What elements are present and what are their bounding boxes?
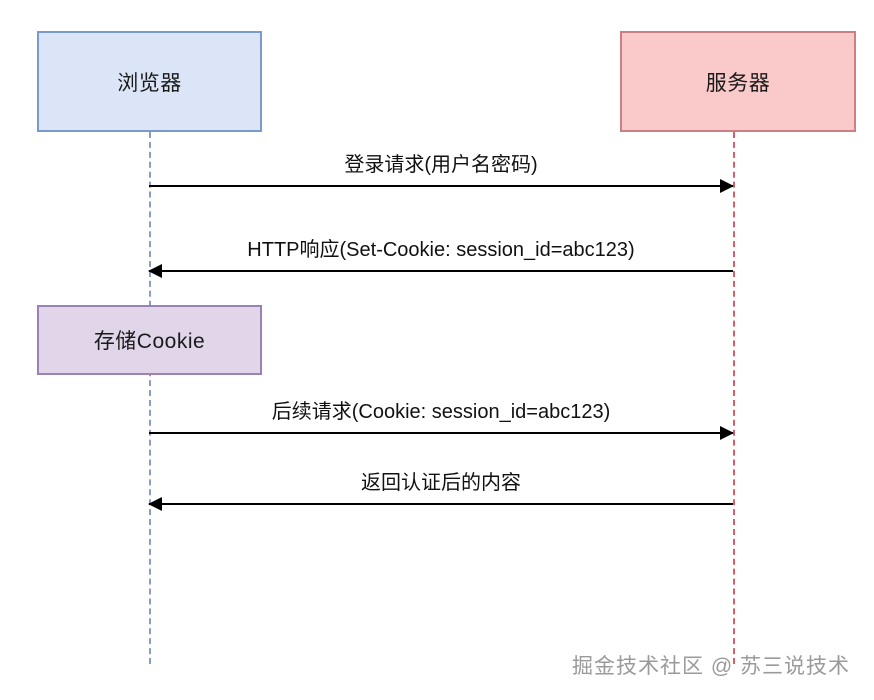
action-store-cookie-label: 存储Cookie — [94, 325, 205, 355]
message-3-line — [149, 432, 733, 434]
message-3-label: 后续请求(Cookie: session_id=abc123) — [149, 395, 733, 424]
participant-server: 服务器 — [620, 31, 856, 132]
arrow-right-icon — [720, 426, 734, 440]
participant-server-label: 服务器 — [706, 67, 771, 97]
message-1-label: 登录请求(用户名密码) — [149, 148, 733, 177]
participant-browser: 浏览器 — [37, 31, 262, 132]
message-2-label: HTTP响应(Set-Cookie: session_id=abc123) — [149, 233, 733, 262]
arrow-left-icon — [148, 264, 162, 278]
lifeline-server — [733, 132, 735, 664]
participant-browser-label: 浏览器 — [117, 67, 182, 97]
message-2-line — [149, 270, 733, 272]
message-4-line — [149, 503, 733, 505]
message-4-label: 返回认证后的内容 — [149, 466, 733, 495]
sequence-diagram-canvas: 浏览器 服务器 存储Cookie 登录请求(用户名密码) HTTP响应(Set-… — [0, 0, 874, 700]
action-store-cookie: 存储Cookie — [37, 305, 262, 375]
arrow-right-icon — [720, 179, 734, 193]
message-1-line — [149, 185, 733, 187]
arrow-left-icon — [148, 497, 162, 511]
watermark: 掘金技术社区 @ 苏三说技术 — [572, 650, 850, 680]
